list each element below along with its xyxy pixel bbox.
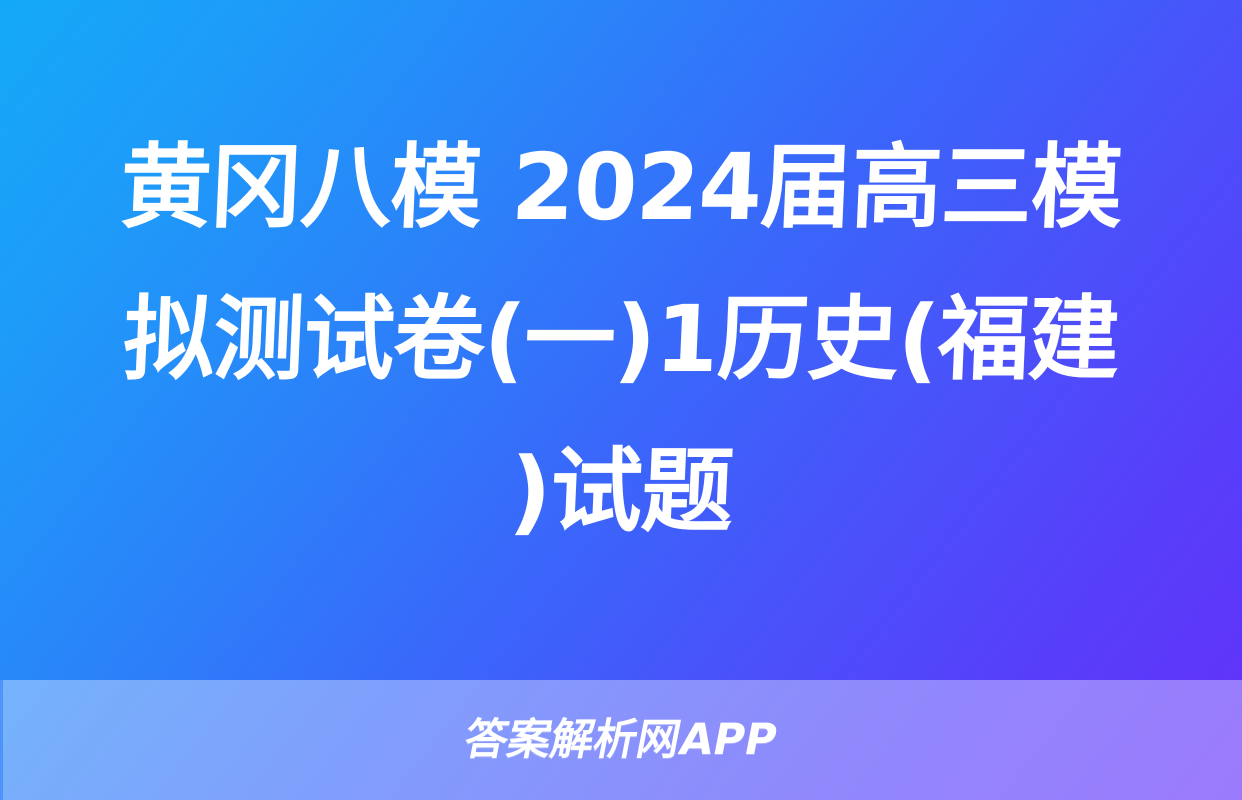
title-block: 黄冈八模 2024届高三模 拟测试卷(一)1历史(福建 )试题 [0,0,1242,680]
footer-watermark-band: 答案解析网APP [0,680,1242,800]
title-line-3: )试题 [69,416,1174,568]
title-line-2: 拟测试卷(一)1历史(福建 [74,264,1168,416]
title-line-1: 黄冈八模 2024届高三模 [74,112,1168,264]
promo-card: 黄冈八模 2024届高三模 拟测试卷(一)1历史(福建 )试题 答案解析网APP [0,0,1242,800]
watermark-text: 答案解析网APP [461,719,781,762]
footer-left-edge-strip [0,680,3,800]
